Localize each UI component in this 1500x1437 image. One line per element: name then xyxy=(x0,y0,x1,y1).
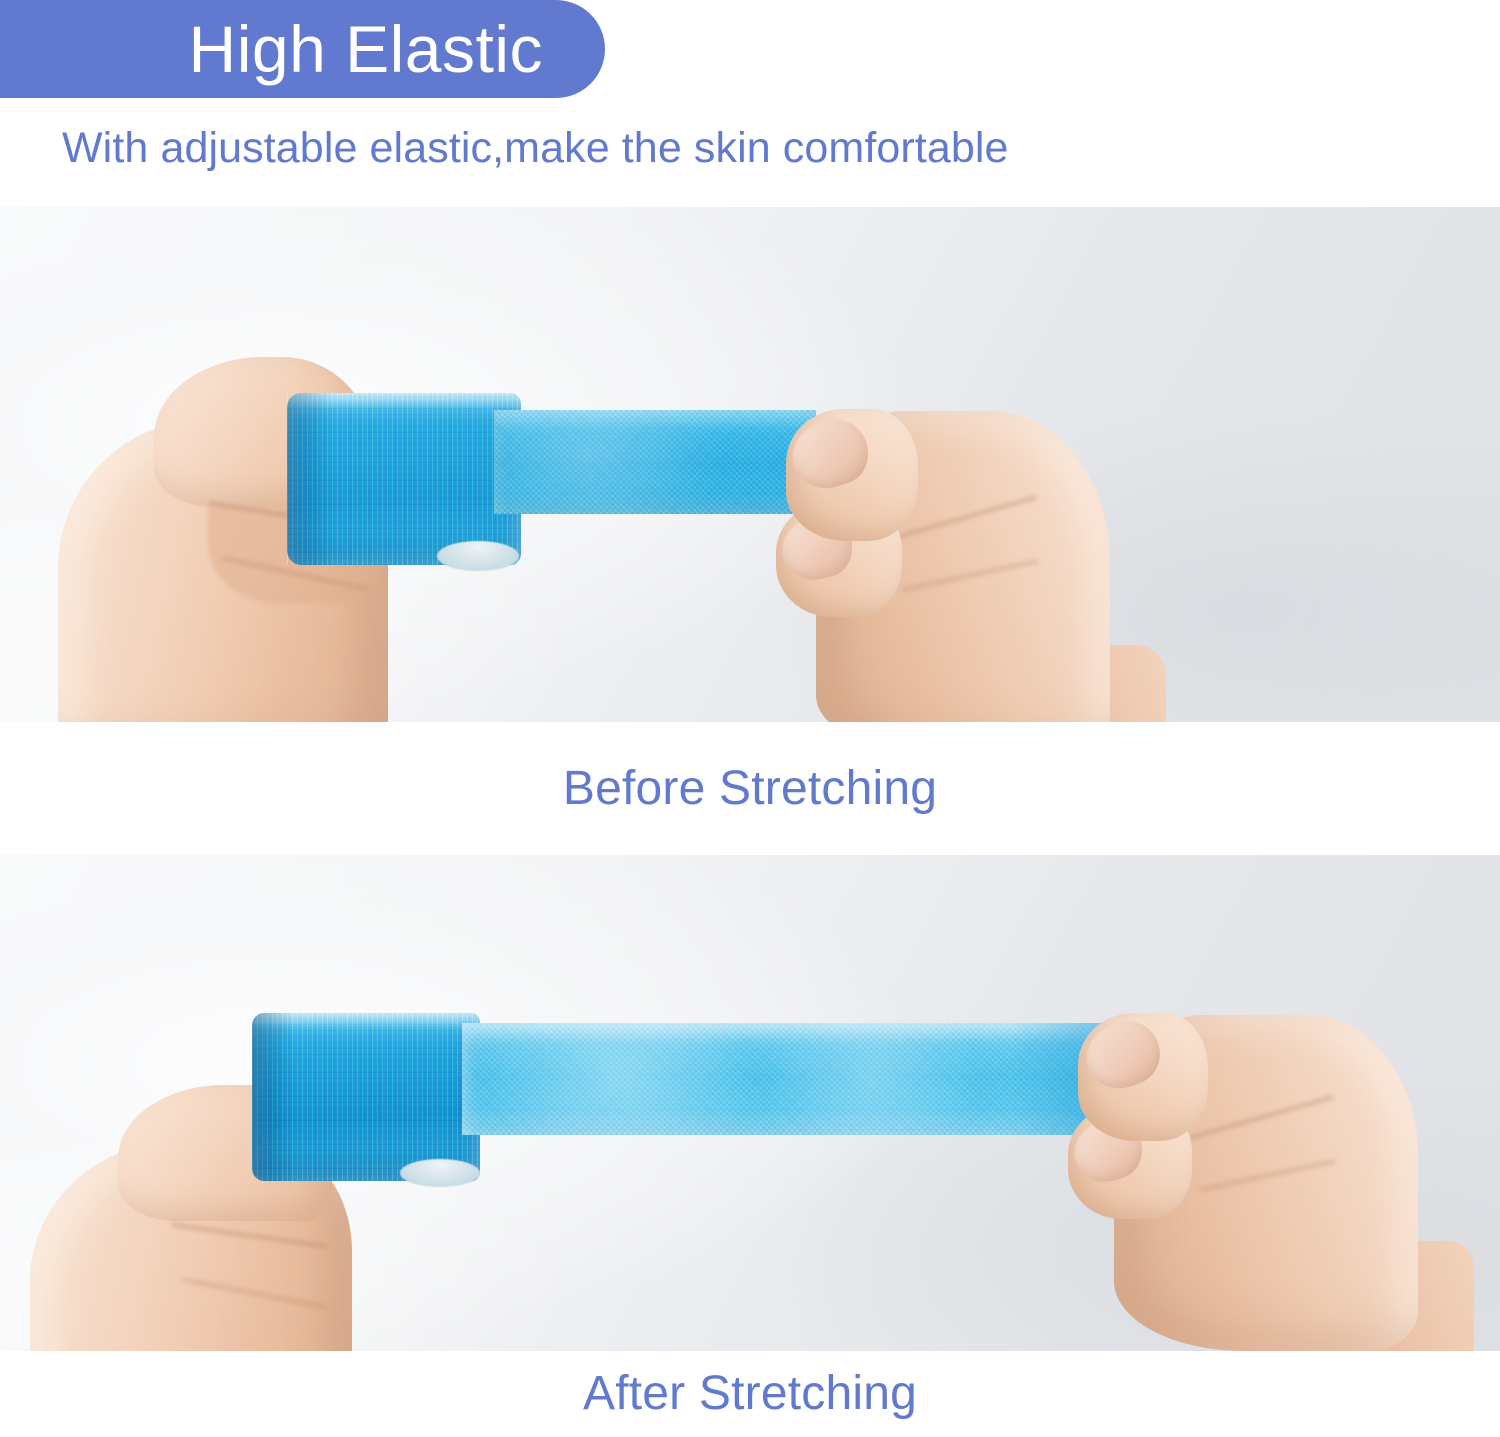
photo-before-stretching xyxy=(0,207,1500,722)
bandage-strip-body xyxy=(462,1023,1122,1135)
bandage-strip-before xyxy=(494,410,816,514)
caption-band-after: After Stretching xyxy=(0,1351,1500,1437)
right-hand-pulling-strip xyxy=(1058,1005,1418,1351)
bandage-strip-after-stretched xyxy=(462,1023,1122,1135)
header-subtitle: With adjustable elastic,make the skin co… xyxy=(62,122,1009,174)
caption-after-stretching: After Stretching xyxy=(583,1366,917,1422)
bandage-roll-shadow xyxy=(287,393,333,565)
bandage-roll-body xyxy=(252,1013,480,1181)
bandage-roll-body xyxy=(287,393,521,565)
right-hand-pinching-strip xyxy=(770,395,1110,722)
bandage-roll-shadow xyxy=(252,1013,294,1181)
bandage-roll-before xyxy=(287,393,521,565)
photo-after-stretching xyxy=(0,855,1500,1351)
bandage-strip-highlight xyxy=(494,410,816,514)
header: High Elastic With adjustable elastic,mak… xyxy=(0,0,1500,207)
caption-band-before: Before Stretching xyxy=(0,722,1500,855)
caption-before-stretching: Before Stretching xyxy=(563,761,937,817)
badge-label: High Elastic xyxy=(189,14,543,84)
bandage-roll-after xyxy=(252,1013,480,1181)
bandage-strip-body xyxy=(494,410,816,514)
bandage-roll-core xyxy=(400,1159,480,1187)
high-elastic-badge: High Elastic xyxy=(0,0,605,98)
bandage-roll-core xyxy=(437,541,519,571)
